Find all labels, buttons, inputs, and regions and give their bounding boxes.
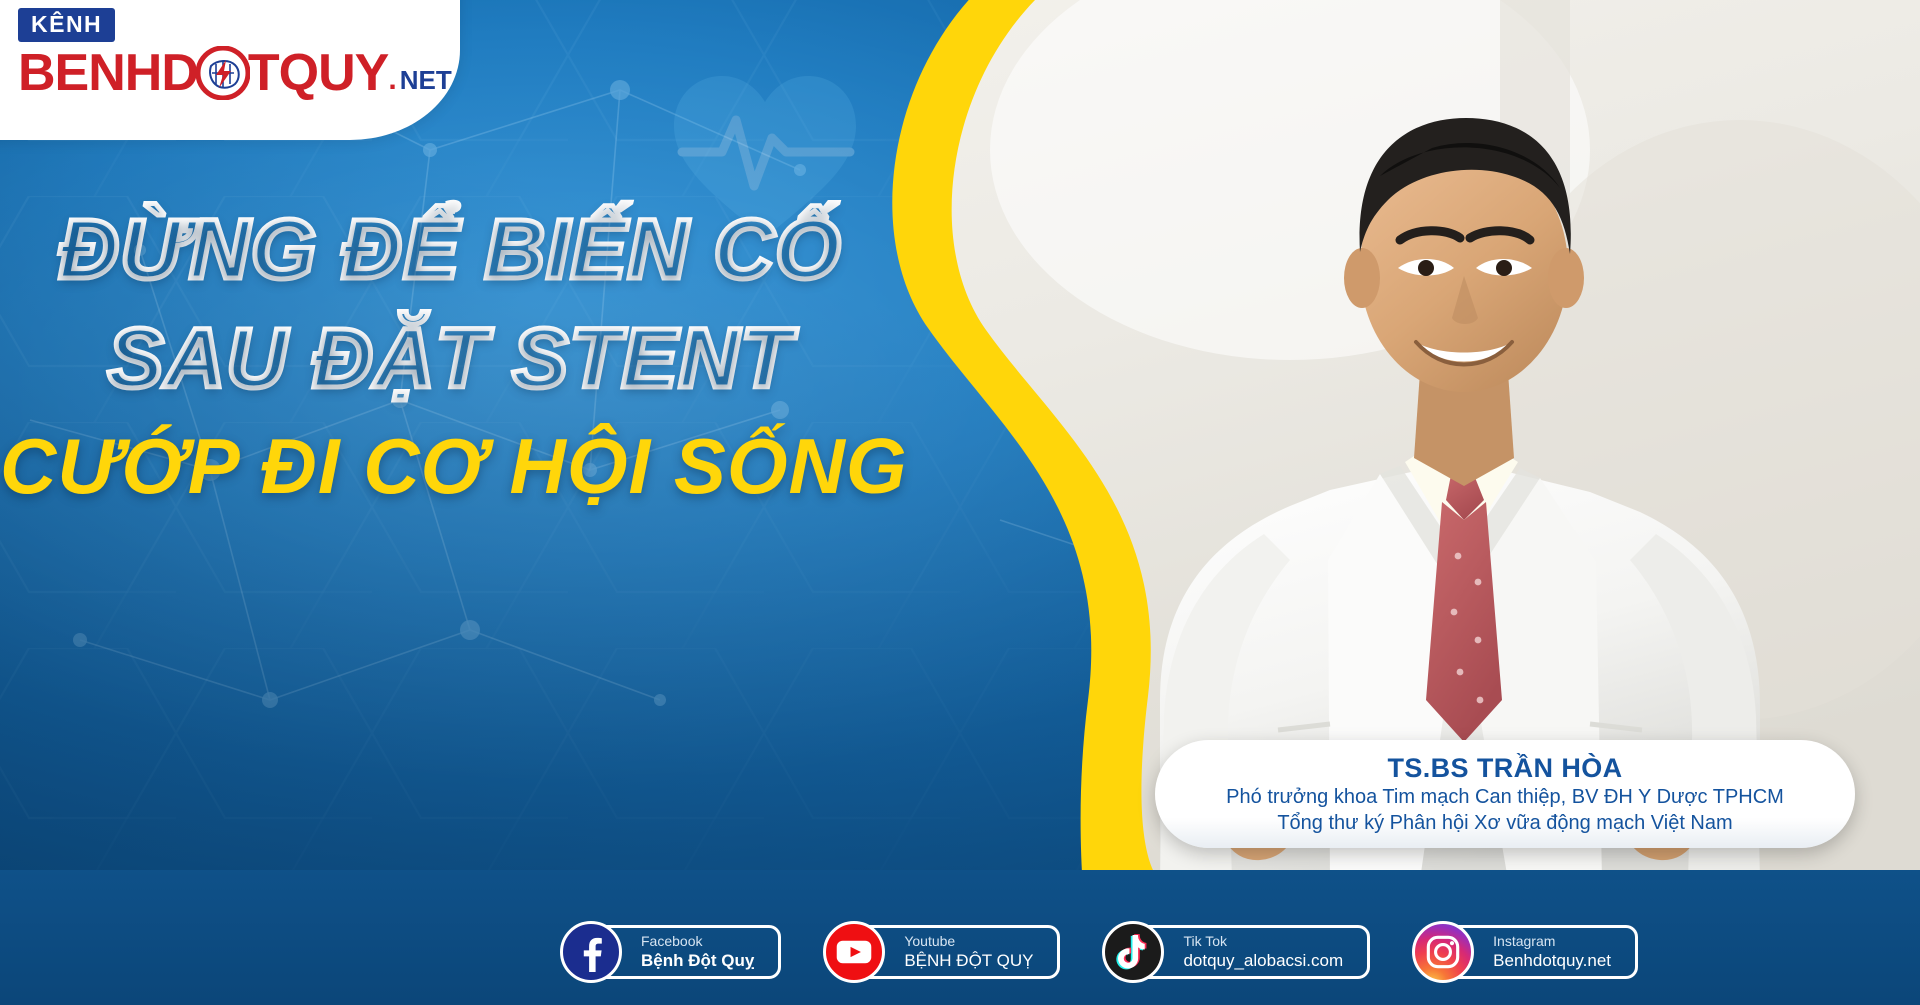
poster-canvas: KÊNH BENHD TQUY . NET ĐỪNG ĐỂ BIẾN CỐ SA…: [0, 0, 1920, 1005]
facebook-icon[interactable]: [560, 921, 622, 983]
logo-word-tquy: TQUY: [248, 47, 388, 99]
social-item-tiktok[interactable]: Tik Tok dotquy_alobacsi.com: [1102, 921, 1370, 983]
instagram-platform: Instagram: [1493, 933, 1611, 951]
brain-lightning-icon: [196, 46, 250, 100]
youtube-platform: Youtube: [904, 933, 1033, 951]
tiktok-handle: dotquy_alobacsi.com: [1183, 950, 1343, 971]
social-links: Facebook Bệnh Đột Quỵ Youtube BỆNH ĐỘT Q…: [560, 921, 1638, 983]
social-item-instagram[interactable]: Instagram Benhdotquy.net: [1412, 921, 1638, 983]
doctor-nameplate: TS.BS TRẦN HÒA Phó trưởng khoa Tim mạch …: [1155, 740, 1855, 848]
tiktok-icon[interactable]: [1102, 921, 1164, 983]
logo-word-benhd: BENHD: [18, 47, 198, 99]
logo-dot: .: [388, 63, 396, 100]
doctor-name: TS.BS TRẦN HÒA: [1387, 753, 1622, 785]
youtube-icon[interactable]: [823, 921, 885, 983]
youtube-handle: BỆNH ĐỘT QUỴ: [904, 950, 1033, 971]
site-logo[interactable]: KÊNH BENHD TQUY . NET: [10, 8, 430, 100]
social-item-facebook[interactable]: Facebook Bệnh Đột Quỵ: [560, 921, 781, 983]
facebook-platform: Facebook: [641, 933, 754, 951]
headline-line-1: ĐỪNG ĐỂ BIẾN CỐ: [0, 205, 900, 294]
doctor-role-line-2: Tổng thư ký Phân hội Xơ vữa động mạch Vi…: [1277, 811, 1732, 837]
logo-tld: NET: [400, 65, 452, 100]
social-item-youtube[interactable]: Youtube BỆNH ĐỘT QUỴ: [823, 921, 1060, 983]
doctor-photo-panel: [860, 0, 1920, 1005]
instagram-handle: Benhdotquy.net: [1493, 950, 1611, 971]
tiktok-pill[interactable]: Tik Tok dotquy_alobacsi.com: [1128, 925, 1370, 979]
kenh-badge: KÊNH: [18, 8, 115, 42]
doctor-role-line-1: Phó trưởng khoa Tim mạch Can thiệp, BV Đ…: [1226, 785, 1784, 811]
facebook-handle: Bệnh Đột Quỵ: [641, 950, 754, 971]
instagram-icon[interactable]: [1412, 921, 1474, 983]
headline-line-2: SAU ĐẶT STENT: [0, 314, 900, 403]
headline-block: ĐỪNG ĐỂ BIẾN CỐ SAU ĐẶT STENT CƯỚP ĐI CƠ…: [0, 205, 900, 508]
tiktok-platform: Tik Tok: [1183, 933, 1343, 951]
headline-line-3: CƯỚP ĐI CƠ HỘI SỐNG: [0, 425, 900, 508]
